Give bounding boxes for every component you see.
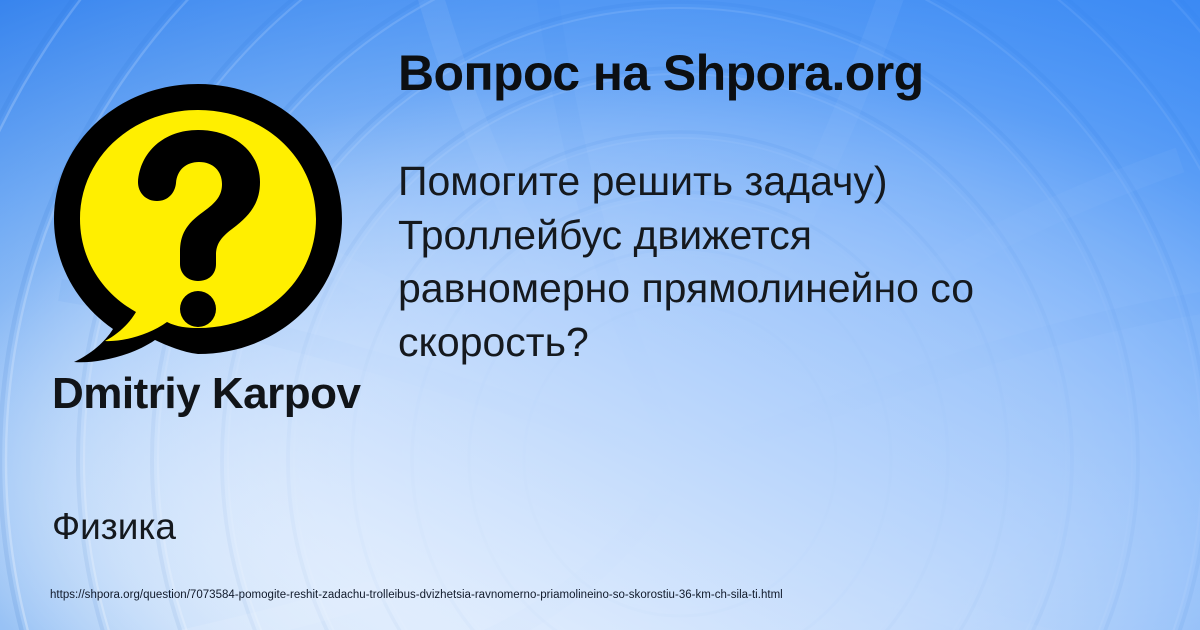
question-line: Помогите решить задачу) — [398, 155, 1188, 209]
subject-label: Физика — [52, 508, 382, 547]
author-name: Dmitriy Karpov — [52, 372, 382, 417]
question-text: Помогите решить задачу) Троллейбус движе… — [398, 155, 1188, 370]
page-title: Вопрос на Shpora.org — [398, 47, 1178, 100]
question-line: Троллейбус движется — [398, 209, 1188, 263]
question-line: скорость? — [398, 316, 1188, 370]
question-speech-bubble-icon — [48, 78, 348, 368]
source-url[interactable]: https://shpora.org/question/7073584-pomo… — [50, 589, 783, 601]
question-line: равномерно прямолинейно со — [398, 262, 1188, 316]
question-share-card: Dmitriy Karpov Физика Вопрос на Shpora.o… — [0, 0, 1200, 630]
